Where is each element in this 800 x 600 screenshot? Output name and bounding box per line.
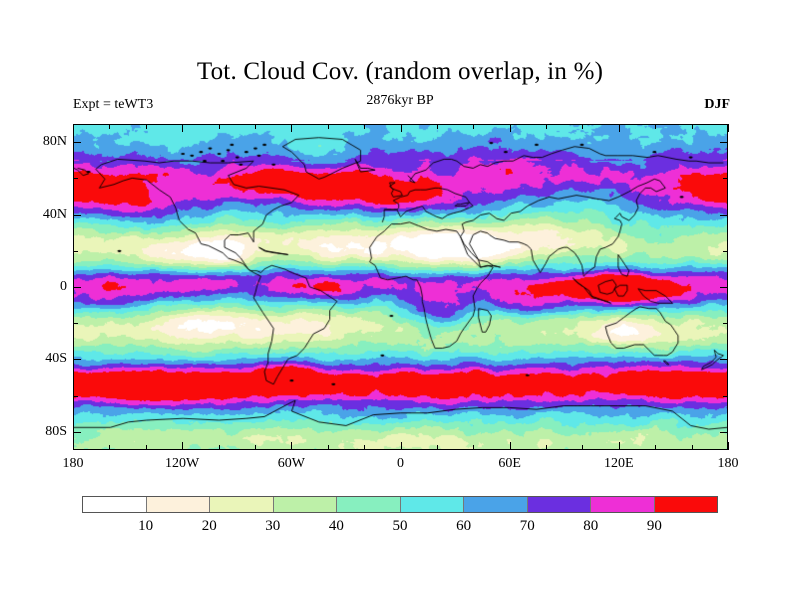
axis-tick <box>364 445 365 450</box>
map-plot-area <box>73 124 728 450</box>
colorbar-tick-label: 80 <box>583 518 598 535</box>
axis-tick <box>720 142 728 143</box>
axis-tick <box>510 124 511 132</box>
axis-tick <box>73 178 78 179</box>
y-axis-tick-label: 80N <box>43 134 67 150</box>
axis-tick <box>255 445 256 450</box>
axis-tick <box>73 142 81 143</box>
axis-tick <box>582 124 583 129</box>
colorbar-bands <box>82 496 718 513</box>
colorbar-band <box>527 497 591 512</box>
axis-tick <box>655 445 656 450</box>
experiment-label: Expt = teWT3 <box>73 97 153 113</box>
axis-tick <box>546 124 547 129</box>
axis-tick <box>546 445 547 450</box>
axis-tick <box>73 432 81 433</box>
y-axis-tick-label: 40S <box>45 351 67 367</box>
axis-tick <box>328 445 329 450</box>
axis-tick <box>255 124 256 129</box>
axis-tick <box>146 445 147 450</box>
x-axis-tick-label: 180 <box>718 456 739 472</box>
axis-tick <box>720 287 728 288</box>
axis-tick <box>182 442 183 450</box>
y-axis-tick-label: 80S <box>45 424 67 440</box>
colorbar-band <box>463 497 527 512</box>
axis-tick <box>291 442 292 450</box>
colorbar-tick-label: 60 <box>456 518 471 535</box>
axis-tick <box>437 124 438 129</box>
axis-tick <box>73 323 78 324</box>
colorbar-tick-label: 10 <box>138 518 153 535</box>
axis-tick <box>73 359 81 360</box>
colorbar-band <box>654 497 718 512</box>
season-label: DJF <box>704 97 730 113</box>
axis-tick <box>73 124 74 132</box>
axis-tick <box>720 432 728 433</box>
axis-tick <box>720 359 728 360</box>
colorbar-band <box>336 497 400 512</box>
colorbar-band <box>209 497 273 512</box>
x-axis-tick-label: 120E <box>604 456 634 472</box>
axis-tick <box>401 124 402 132</box>
colorbar-band <box>83 497 146 512</box>
axis-tick <box>437 445 438 450</box>
colorbar-band <box>590 497 654 512</box>
x-axis-tick-label: 60W <box>278 456 305 472</box>
axis-tick <box>219 445 220 450</box>
axis-tick <box>510 442 511 450</box>
y-axis-tick-label: 40N <box>43 207 67 223</box>
axis-tick <box>582 445 583 450</box>
axis-tick <box>728 124 729 132</box>
x-axis-tick-label: 180 <box>63 456 84 472</box>
axis-tick <box>364 124 365 129</box>
axis-tick <box>723 178 728 179</box>
climate-map-figure: Tot. Cloud Cov. (random overlap, in %) 2… <box>0 0 800 600</box>
colorbar-tick-label: 30 <box>265 518 280 535</box>
colorbar-tick-label: 90 <box>647 518 662 535</box>
axis-tick <box>73 287 81 288</box>
axis-tick <box>109 445 110 450</box>
axis-tick <box>473 445 474 450</box>
colorbar <box>82 496 718 513</box>
axis-tick <box>655 124 656 129</box>
axis-tick <box>291 124 292 132</box>
page-title: Tot. Cloud Cov. (random overlap, in %) <box>0 58 800 86</box>
x-axis-tick-label: 0 <box>397 456 404 472</box>
colorbar-band <box>146 497 210 512</box>
axis-tick <box>73 396 78 397</box>
axis-tick <box>328 124 329 129</box>
axis-tick <box>723 396 728 397</box>
axis-tick <box>109 124 110 129</box>
axis-tick <box>692 445 693 450</box>
colorbar-tick-label: 20 <box>202 518 217 535</box>
colorbar-tick-label: 50 <box>393 518 408 535</box>
axis-tick <box>720 215 728 216</box>
axis-tick <box>473 124 474 129</box>
axis-tick <box>73 442 74 450</box>
colorbar-tick-label: 70 <box>520 518 535 535</box>
cloud-cover-heatmap <box>74 125 727 449</box>
x-axis-tick-label: 120W <box>165 456 199 472</box>
axis-tick <box>146 124 147 129</box>
axis-tick <box>219 124 220 129</box>
axis-tick <box>723 251 728 252</box>
colorbar-band <box>273 497 337 512</box>
axis-tick <box>692 124 693 129</box>
axis-tick <box>73 251 78 252</box>
axis-tick <box>723 323 728 324</box>
axis-tick <box>619 124 620 132</box>
axis-tick <box>182 124 183 132</box>
colorbar-tick-label: 40 <box>329 518 344 535</box>
axis-tick <box>619 442 620 450</box>
axis-tick <box>73 215 81 216</box>
colorbar-band <box>400 497 464 512</box>
x-axis-tick-label: 60E <box>498 456 521 472</box>
y-axis-tick-label: 0 <box>60 279 67 295</box>
axis-tick <box>728 442 729 450</box>
axis-tick <box>401 442 402 450</box>
